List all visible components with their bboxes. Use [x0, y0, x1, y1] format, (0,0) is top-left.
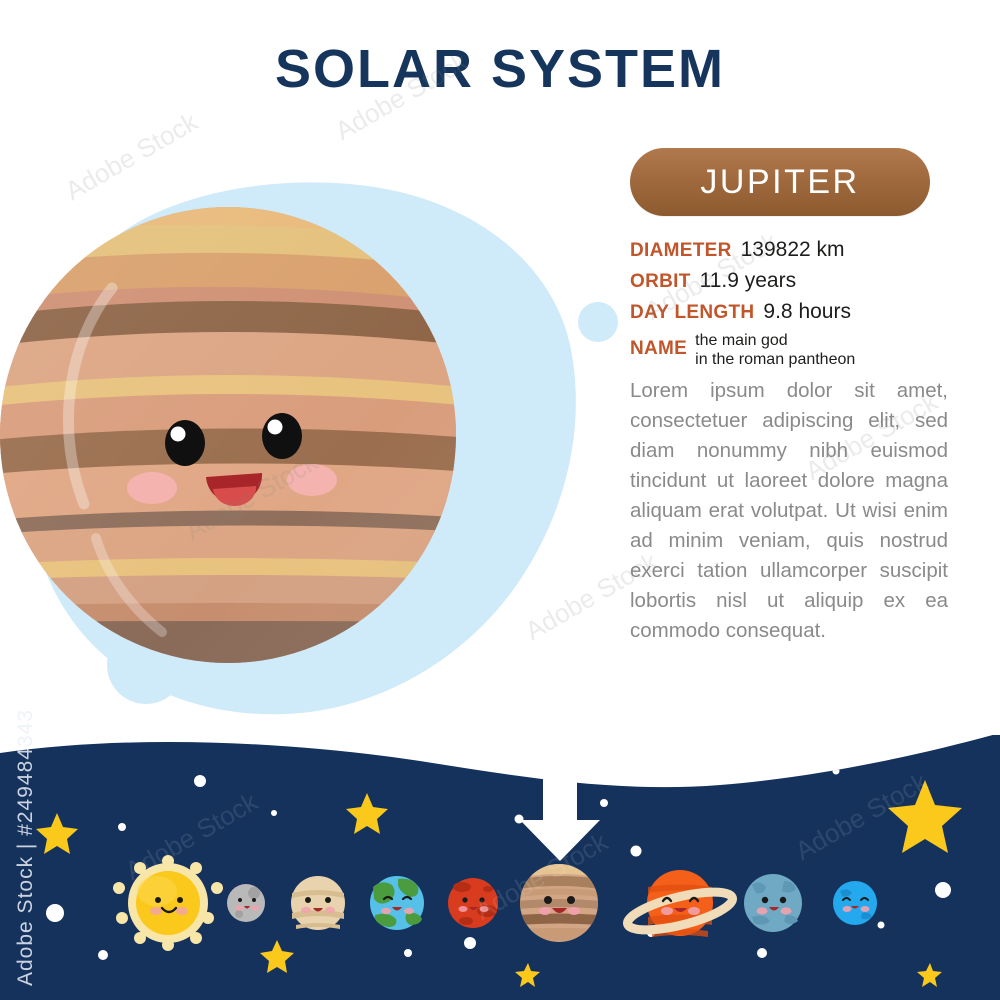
stat-row-orbit: ORBIT 11.9 years — [630, 269, 950, 293]
star-dot — [46, 904, 64, 922]
eye-left — [165, 420, 205, 466]
space-band — [0, 735, 1000, 1000]
cheek-right — [287, 464, 337, 496]
stat-row-diameter: DIAMETER 139822 km — [630, 238, 950, 262]
planet-name-badge[interactable]: JUPITER — [630, 148, 930, 216]
stat-label-diameter: DIAMETER — [630, 240, 732, 262]
stat-label-name: NAME — [630, 331, 687, 367]
planet-info-panel: JUPITER DIAMETER 139822 km ORBIT 11.9 ye… — [630, 148, 950, 646]
star-dot — [194, 775, 206, 787]
planet-icon-earth[interactable] — [370, 876, 424, 930]
star-dot — [515, 815, 524, 824]
stat-value-diameter: 139822 km — [741, 238, 845, 262]
planet-stats-list: DIAMETER 139822 km ORBIT 11.9 years DAY … — [630, 238, 950, 369]
star-dot — [600, 799, 608, 807]
planet-icon-mercury[interactable] — [227, 884, 265, 922]
star-dot — [631, 846, 642, 857]
stat-row-name: NAME the main god in the roman pantheon — [630, 331, 950, 369]
star-dot — [404, 949, 412, 957]
stat-label-day-length: DAY LENGTH — [630, 302, 754, 324]
planet-icon-uranus[interactable] — [744, 874, 802, 932]
eye-highlight-right — [268, 420, 283, 435]
star-dot — [878, 922, 885, 929]
star-dot — [98, 950, 108, 960]
poster-canvas: SOLAR SYSTEM — [0, 0, 1000, 1000]
description-paragraph: Lorem ipsum dolor sit amet, consectetuer… — [630, 376, 948, 646]
star-dot — [757, 948, 767, 958]
eye-highlight-left — [171, 427, 186, 442]
star-dot — [935, 882, 951, 898]
stat-value-name-line1: the main god — [695, 332, 788, 349]
planet-icon-mars[interactable] — [448, 878, 498, 928]
planet-name-badge-label: JUPITER — [700, 163, 859, 202]
hero-planet-illustration — [0, 140, 620, 760]
stat-row-day-length: DAY LENGTH 9.8 hours — [630, 300, 950, 324]
page-title: SOLAR SYSTEM — [0, 38, 1000, 100]
star-dot — [833, 768, 840, 775]
planet-icon-neptune[interactable] — [833, 881, 877, 925]
stat-value-orbit: 11.9 years — [700, 269, 797, 293]
stat-value-name: the main god in the roman pantheon — [695, 331, 855, 369]
stat-label-orbit: ORBIT — [630, 271, 691, 293]
watermark-side-credit: Adobe Stock | #249484343 — [14, 709, 38, 986]
eye-right — [262, 413, 302, 459]
stat-value-day-length: 9.8 hours — [763, 300, 851, 324]
stat-value-name-line2: in the roman pantheon — [695, 351, 855, 368]
cheek-left — [127, 472, 177, 504]
blue-accent-circle-right — [578, 302, 618, 342]
star-dot — [464, 937, 476, 949]
planet-icon-venus[interactable] — [291, 876, 345, 930]
star-dot — [118, 823, 126, 831]
star-dot — [271, 810, 277, 816]
